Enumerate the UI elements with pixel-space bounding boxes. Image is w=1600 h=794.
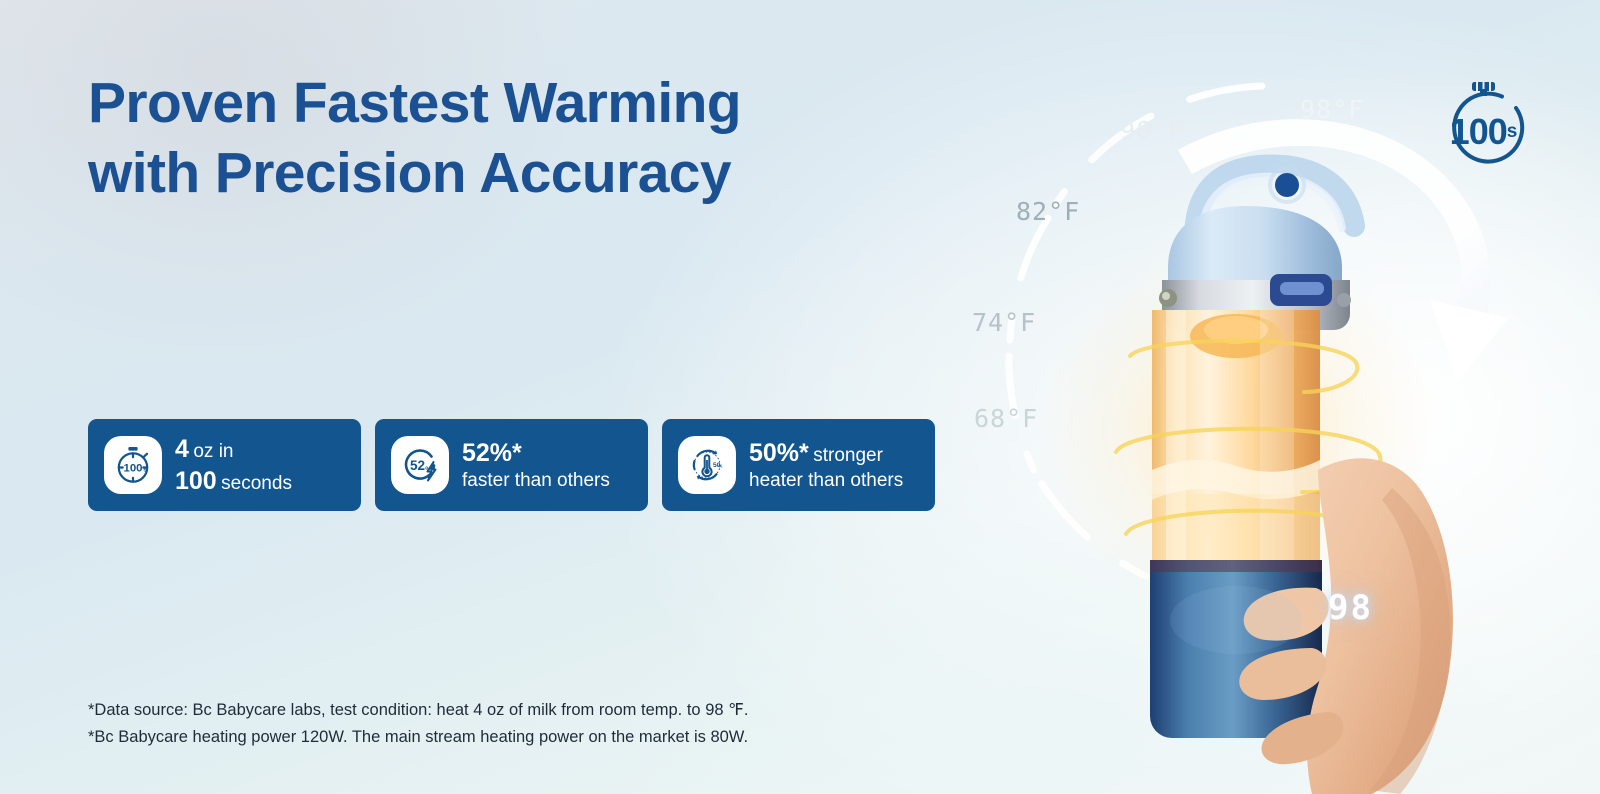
- stat-card-stronger-heater[interactable]: 50 % 50%* stronger heater than others: [662, 419, 935, 511]
- stopwatch-100s-badge: 100s: [1428, 78, 1538, 172]
- stopwatch-badge-text: 100s: [1428, 78, 1538, 172]
- temperature-tick-98: 98°F: [1300, 95, 1364, 124]
- stat-card-faster-text: 52%* faster than others: [462, 437, 610, 493]
- stat-value-1: 4: [175, 435, 189, 463]
- device-temperature-display: 98: [1328, 588, 1373, 628]
- stat-card-speed-time-text: 4 oz in 100 seconds: [175, 433, 292, 497]
- footnote-block: *Data source: Bc Babycare labs, test con…: [88, 697, 748, 750]
- headline-line-2: with Precision Accuracy: [88, 138, 928, 208]
- stat-value-1: 50%*: [749, 439, 809, 467]
- stat-unit-2: seconds: [221, 473, 292, 494]
- stat-unit-2: heater than others: [749, 470, 903, 491]
- stat-card-speed-time[interactable]: 100 s 4 oz in 100 seconds: [88, 419, 361, 511]
- footnote-line-2: *Bc Babycare heating power 120W. The mai…: [88, 724, 748, 751]
- stopwatch-badge-unit: s: [1507, 121, 1517, 143]
- stat-card-stronger-heater-text: 50%* stronger heater than others: [749, 437, 903, 493]
- stat-row-1: 4 oz in: [175, 433, 292, 465]
- stat-unit-1: stronger: [813, 445, 883, 466]
- stat-row-2: faster than others: [462, 469, 610, 493]
- stopwatch-badge-value: 100: [1450, 111, 1507, 153]
- temperature-tick-90: 90°F: [1120, 116, 1184, 145]
- footnote-line-1: *Data source: Bc Babycare labs, test con…: [88, 697, 748, 724]
- stopwatch-icon: 100 s: [104, 436, 162, 494]
- svg-text:%: %: [718, 464, 722, 469]
- stat-unit-1: oz in: [193, 441, 233, 462]
- stat-value-1: 52%*: [462, 439, 522, 467]
- svg-text:s: s: [143, 467, 147, 474]
- stat-row-1: 52%*: [462, 437, 610, 469]
- svg-text:100: 100: [123, 463, 142, 475]
- page-title: Proven Fastest Warming with Precision Ac…: [88, 68, 928, 208]
- speed-refresh-bolt-icon: 52 %: [391, 436, 449, 494]
- stat-value-2: 100: [175, 467, 217, 495]
- stat-row-2: heater than others: [749, 469, 903, 493]
- headline-line-1: Proven Fastest Warming: [88, 68, 928, 138]
- product-scene: 68°F 74°F 82°F 90°F 98°F 100s 98: [930, 0, 1600, 794]
- stat-card-list: 100 s 4 oz in 100 seconds 52 % 52%*: [88, 419, 935, 511]
- temperature-tick-68: 68°F: [974, 404, 1038, 433]
- stat-card-faster[interactable]: 52 % 52%* faster than others: [375, 419, 648, 511]
- svg-text:52: 52: [410, 458, 425, 473]
- thermometer-cycle-icon: 50 %: [678, 436, 736, 494]
- promo-banner: Proven Fastest Warming with Precision Ac…: [0, 0, 1600, 794]
- stat-unit-2: faster than others: [462, 470, 610, 491]
- stat-row-2: 100 seconds: [175, 465, 292, 497]
- temperature-tick-82: 82°F: [1016, 197, 1080, 226]
- temperature-tick-74: 74°F: [972, 308, 1036, 337]
- stat-row-1: 50%* stronger: [749, 437, 903, 469]
